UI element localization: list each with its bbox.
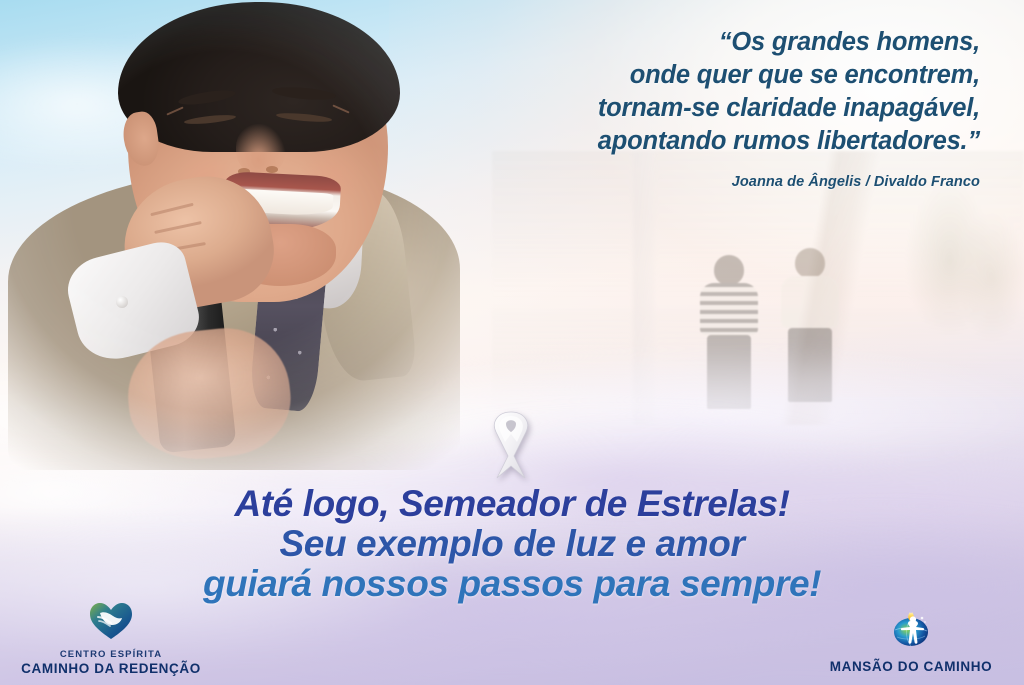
figure-legs: [707, 335, 751, 409]
logo-centro-espirita: CENTRO ESPÍRITA CAMINHO DA REDENÇÃO: [6, 601, 216, 677]
background-figure-white-shirt: [795, 248, 839, 402]
quote-line-4: apontando rumos libertadores.”: [420, 125, 980, 158]
globe-figure-flame-icon: [806, 609, 1016, 656]
headline-line-3: guiará nossos passos para sempre!: [0, 564, 1024, 604]
logo-mansao-do-caminho: MANSÃO DO CAMINHO: [806, 609, 1016, 675]
quote-line-3: tornam-se claridade inapagável,: [420, 92, 980, 125]
portrait-soft-mask: [0, 0, 470, 470]
quote-line-1: “Os grandes homens,: [420, 26, 980, 59]
nostril-right: [266, 166, 278, 173]
logo-left-line-2: CAMINHO DA REDENÇÃO: [6, 661, 216, 677]
figure-head: [714, 255, 744, 285]
memorial-poster: “Os grandes homens, onde quer que se enc…: [0, 0, 1024, 685]
quote-block: “Os grandes homens, onde quer que se enc…: [420, 26, 980, 190]
figure-torso: [781, 276, 839, 328]
figure-torso: [700, 283, 758, 335]
headline-line-2: Seu exemplo de luz e amor: [0, 524, 1024, 564]
portrait-divaldo-franco: [0, 0, 470, 470]
quote-attribution: Joanna de Ângelis / Divaldo Franco: [420, 174, 980, 190]
logo-right-line-1: MANSÃO DO CAMINHO: [806, 659, 1016, 675]
cuff-button: [116, 296, 128, 308]
figure-legs: [788, 328, 832, 402]
heart-hands-icon: [6, 601, 216, 646]
mourning-ribbon-icon: [478, 404, 544, 482]
quote-line-2: onde quer que se encontrem,: [420, 59, 980, 92]
figure-head: [795, 248, 825, 278]
logo-left-line-1: CENTRO ESPÍRITA: [6, 649, 216, 661]
headline-line-1: Até logo, Semeador de Estrelas!: [0, 484, 1024, 524]
headline-block: Até logo, Semeador de Estrelas! Seu exem…: [0, 484, 1024, 604]
background-figure-striped-shirt: [714, 255, 758, 409]
